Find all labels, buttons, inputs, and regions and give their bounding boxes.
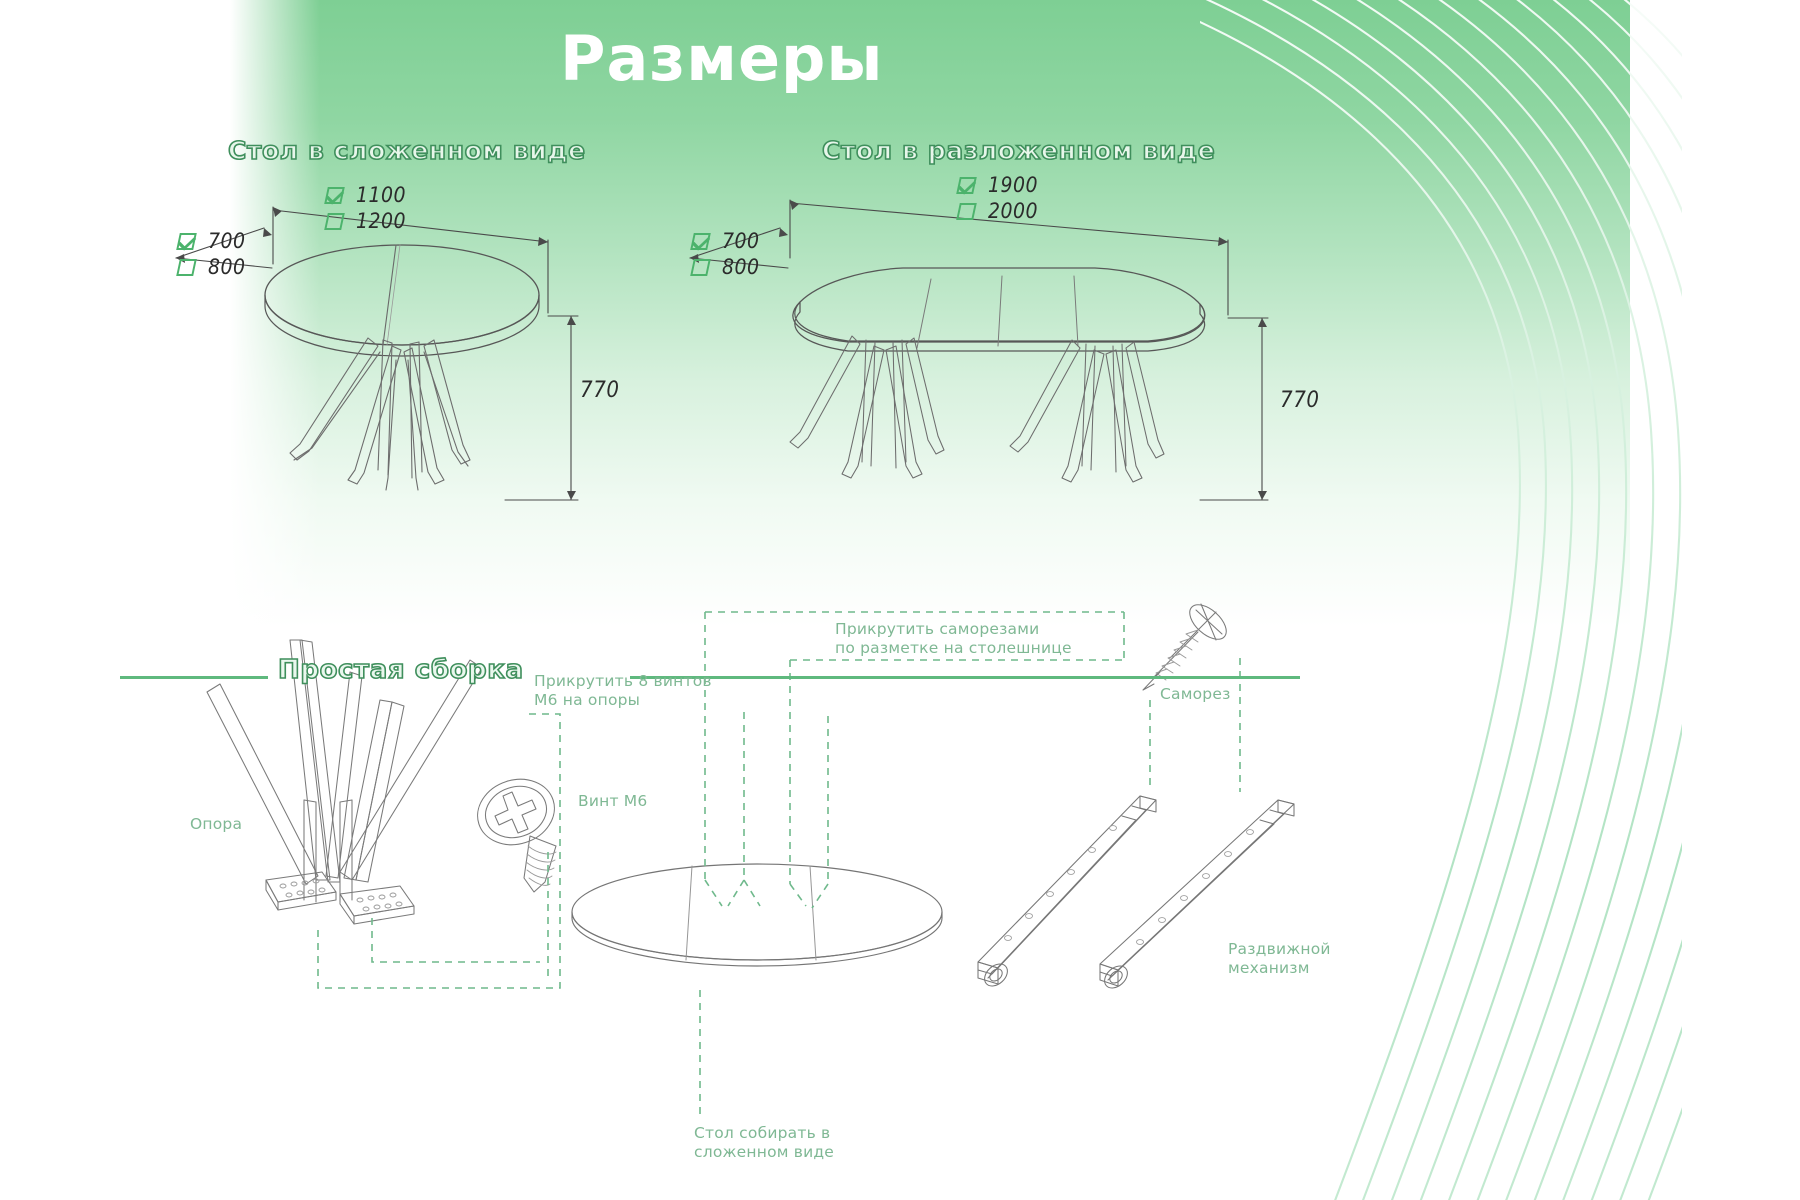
unfolded-depth-options: 700 800: [692, 228, 760, 280]
option-row[interactable]: 700: [692, 228, 760, 254]
option-row[interactable]: 800: [178, 254, 246, 280]
folded-depth-options: 700 800: [178, 228, 246, 280]
option-value: 700: [722, 229, 760, 253]
instruction-assemble-folded: Стол собирать в сложенном виде: [694, 1124, 834, 1162]
checkbox-checked-icon[interactable]: [176, 233, 197, 250]
folded-height-value: 770: [580, 378, 620, 403]
option-value: 2000: [988, 199, 1038, 223]
option-value: 800: [722, 255, 760, 279]
divider-left: [120, 676, 268, 679]
option-value: 1100: [356, 183, 406, 207]
section-heading-folded: Стол в сложенном виде: [228, 136, 586, 165]
part-label-slide-mechanism: Раздвижной механизм: [1228, 940, 1331, 978]
folded-width-options: 1100 1200: [326, 182, 406, 234]
option-row[interactable]: 700: [178, 228, 246, 254]
unfolded-height-value: 770: [1280, 388, 1320, 413]
checkbox-checked-icon[interactable]: [956, 177, 977, 194]
option-value: 1200: [356, 209, 406, 233]
page-root: Размеры Стол в сложенном виде Стол в раз…: [0, 0, 1800, 1200]
checkbox-unchecked-icon[interactable]: [324, 213, 345, 230]
unfolded-width-options: 1900 2000: [958, 172, 1038, 224]
option-row[interactable]: 1100: [326, 182, 406, 208]
instruction-screws-m6: Прикрутить 8 винтов М6 на опоры: [534, 672, 712, 710]
option-row[interactable]: 1200: [326, 208, 406, 234]
section-heading-unfolded: Стол в разложенном виде: [822, 136, 1215, 165]
checkbox-checked-icon[interactable]: [324, 187, 345, 204]
part-label-support: Опора: [190, 815, 242, 834]
option-value: 800: [208, 255, 246, 279]
instruction-self-tapping: Прикрутить саморезами по разметке на сто…: [835, 620, 1072, 658]
divider-right: [630, 676, 1300, 679]
part-screw-m6-drawing: [469, 770, 563, 892]
option-row[interactable]: 800: [692, 254, 760, 280]
assembly-heading: Простая сборка: [278, 655, 524, 685]
option-value: 1900: [988, 173, 1038, 197]
page-title: Размеры: [560, 22, 883, 95]
checkbox-checked-icon[interactable]: [690, 233, 711, 250]
right-white-margin: [1682, 0, 1800, 1200]
checkbox-unchecked-icon[interactable]: [176, 259, 197, 276]
part-label-screw-m6: Винт М6: [578, 792, 647, 811]
option-row[interactable]: 2000: [958, 198, 1038, 224]
checkbox-unchecked-icon[interactable]: [956, 203, 977, 220]
part-tabletop-drawing: [572, 864, 942, 966]
checkbox-unchecked-icon[interactable]: [690, 259, 711, 276]
option-row[interactable]: 1900: [958, 172, 1038, 198]
option-value: 700: [208, 229, 246, 253]
part-label-self-tapper: Саморез: [1160, 685, 1231, 704]
